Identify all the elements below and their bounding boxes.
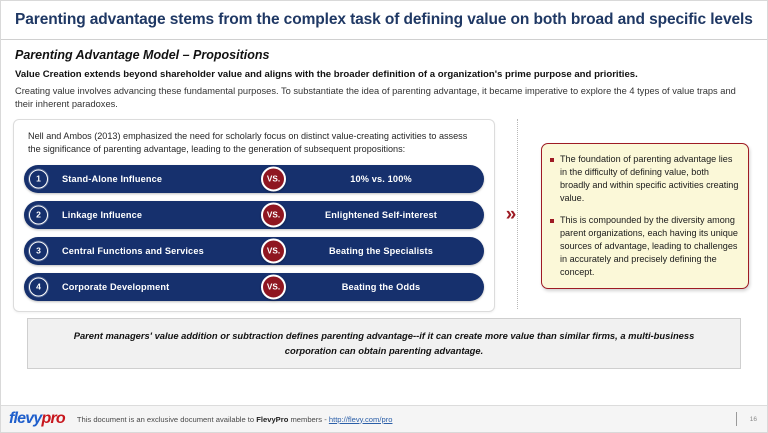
callout-text: This is compounded by the diversity amon… — [560, 214, 739, 279]
vs-badge-icon: VS. — [261, 238, 286, 263]
proposition-number-badge: 3 — [29, 241, 48, 260]
double-chevron-right-icon: » — [506, 204, 517, 225]
proposition-right-label: 10% vs. 100% — [286, 174, 476, 184]
dotted-divider-line — [517, 119, 518, 309]
intro-block: Parenting Advantage Model – Propositions… — [1, 40, 767, 115]
propositions-panel: Nell and Ambos (2013) emphasized the nee… — [13, 119, 495, 311]
proposition-bar[interactable]: 2 Linkage Influence Enlightened Self-int… — [24, 201, 484, 229]
footer-link[interactable]: http://flevy.com/pro — [329, 415, 393, 424]
proposition-right-label: Beating the Specialists — [286, 246, 476, 256]
key-takeaway-text: Parent managers' value addition or subtr… — [48, 329, 720, 357]
body-paragraph: Creating value involves advancing these … — [15, 85, 753, 111]
main-content-area: Nell and Ambos (2013) emphasized the nee… — [1, 114, 767, 314]
proposition-row-2[interactable]: 2 Linkage Influence Enlightened Self-int… — [24, 201, 484, 229]
proposition-list: 1 Stand-Alone Influence 10% vs. 100% VS.… — [24, 165, 484, 301]
callout-list-item: The foundation of parenting advantage li… — [550, 153, 739, 205]
callout-list-item: This is compounded by the diversity amon… — [550, 214, 739, 279]
footer-bar: flevypro This document is an exclusive d… — [1, 405, 767, 432]
footer-notice: This document is an exclusive document a… — [77, 415, 393, 424]
footer-notice-suffix: members - — [288, 415, 329, 424]
flevypro-logo[interactable]: flevypro — [9, 411, 65, 427]
slide-canvas: Parenting advantage stems from the compl… — [0, 0, 768, 433]
vs-badge-icon: VS. — [261, 202, 286, 227]
logo-text-pro: pro — [41, 410, 64, 427]
callout-text: The foundation of parenting advantage li… — [560, 153, 739, 205]
proposition-left-label: Central Functions and Services — [62, 246, 262, 256]
footer-notice-prefix: This document is an exclusive document a… — [77, 415, 256, 424]
proposition-row-3[interactable]: 3 Central Functions and Services Beating… — [24, 237, 484, 265]
title-block: Parenting advantage stems from the compl… — [1, 1, 767, 36]
proposition-number-badge: 4 — [29, 277, 48, 296]
proposition-right-label: Beating the Odds — [286, 282, 476, 292]
vs-badge-icon: VS. — [261, 166, 286, 191]
proposition-bar[interactable]: 4 Corporate Development Beating the Odds — [24, 273, 484, 301]
insights-callout: The foundation of parenting advantage li… — [541, 143, 749, 288]
proposition-bar[interactable]: 3 Central Functions and Services Beating… — [24, 237, 484, 265]
footer-brand-name: FlevyPro — [256, 415, 288, 424]
bullet-square-icon — [550, 219, 554, 223]
quote-wrapper: Parent managers' value addition or subtr… — [1, 314, 767, 368]
proposition-left-label: Corporate Development — [62, 282, 262, 292]
proposition-bar[interactable]: 1 Stand-Alone Influence 10% vs. 100% — [24, 165, 484, 193]
section-divider: » — [495, 119, 541, 309]
lead-statement: Value Creation extends beyond shareholde… — [15, 69, 753, 80]
proposition-number-badge: 1 — [29, 169, 48, 188]
vs-badge-icon: VS. — [261, 274, 286, 299]
proposition-row-4[interactable]: 4 Corporate Development Beating the Odds… — [24, 273, 484, 301]
logo-text-flevy: flevy — [9, 410, 41, 427]
page-title: Parenting advantage stems from the compl… — [15, 10, 753, 30]
key-takeaway-box: Parent managers' value addition or subtr… — [27, 318, 741, 368]
proposition-right-label: Enlightened Self-interest — [286, 210, 476, 220]
proposition-row-1[interactable]: 1 Stand-Alone Influence 10% vs. 100% VS. — [24, 165, 484, 193]
proposition-left-label: Linkage Influence — [62, 210, 262, 220]
footer-right-group: 16 — [736, 412, 757, 426]
proposition-number-badge: 2 — [29, 205, 48, 224]
section-heading: Parenting Advantage Model – Propositions — [15, 48, 753, 62]
panel-intro-text: Nell and Ambos (2013) emphasized the nee… — [28, 130, 482, 155]
footer-separator — [736, 412, 737, 426]
page-number: 16 — [747, 416, 757, 423]
bullet-square-icon — [550, 158, 554, 162]
proposition-left-label: Stand-Alone Influence — [62, 174, 262, 184]
